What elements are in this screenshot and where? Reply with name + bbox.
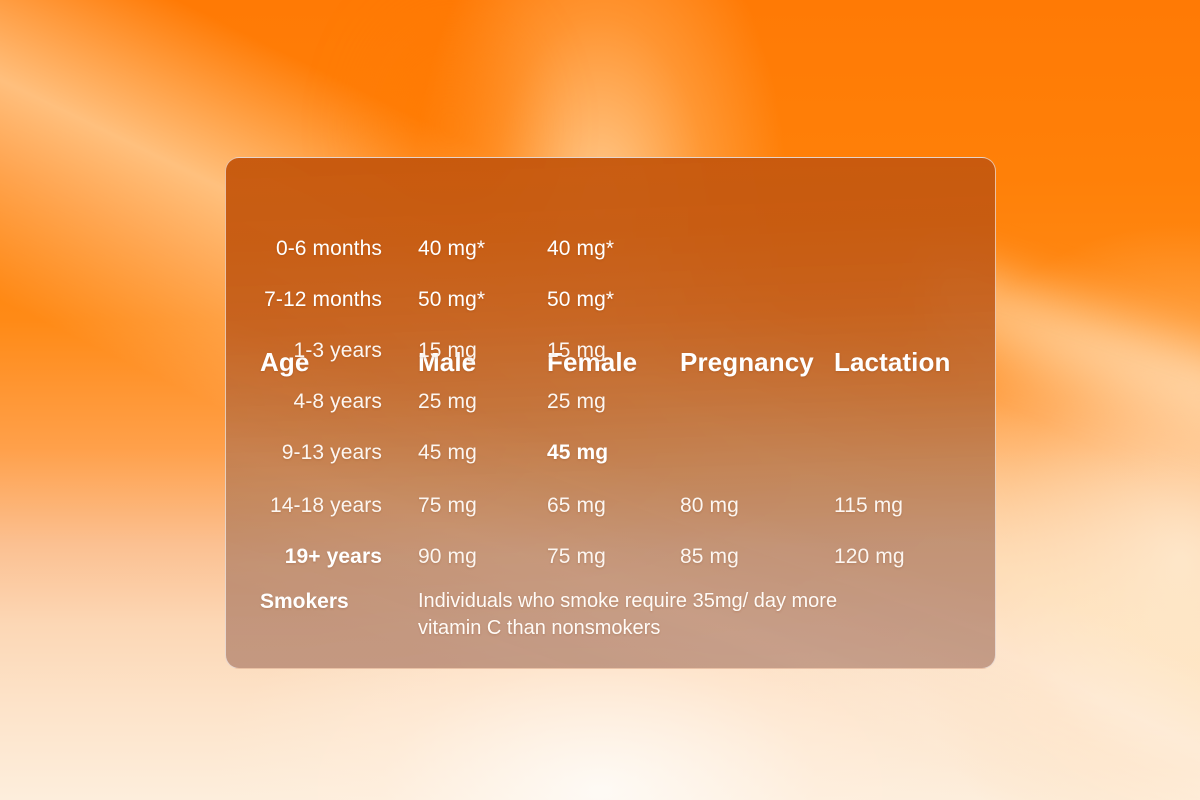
cell-pregnancy: 80 mg [680,492,739,520]
cell-female: 45 mg [547,439,608,467]
cell-female: 50 mg* [547,286,614,314]
cell-male: 90 mg [418,543,477,571]
cell-pregnancy: 85 mg [680,543,739,571]
cell-male: 45 mg [418,439,477,467]
table-row: 0-6 months 40 mg* 40 mg* [226,235,995,269]
cell-male: 40 mg* [418,235,485,263]
cell-male: 25 mg [418,388,477,416]
cell-age: 7-12 months [264,286,382,314]
cell-lactation: 115 mg [834,492,903,520]
cell-male: 75 mg [418,492,477,520]
rda-table: Age Male Female Pregnancy Lactation 0-6 … [226,158,995,668]
cell-female: 25 mg [547,388,606,416]
cell-male: 50 mg* [418,286,485,314]
cell-female: 40 mg* [547,235,614,263]
cell-age: 19+ years [285,543,382,571]
cell-age: 14-18 years [270,492,382,520]
table-row: 4-8 years 25 mg 25 mg [226,388,995,422]
cell-age: 4-8 years [294,388,382,416]
table-row: 7-12 months 50 mg* 50 mg* [226,286,995,320]
cell-age: 0-6 months [276,235,382,263]
table-row: 9-13 years 45 mg 45 mg [226,439,995,473]
vitamin-c-rda-card: Age Male Female Pregnancy Lactation 0-6 … [225,157,996,669]
cell-female: 15 mg [547,337,606,365]
cell-male: 15 mg [418,337,477,365]
cell-age: 9-13 years [282,439,382,467]
table-row: 19+ years 90 mg 75 mg 85 mg 120 mg [226,543,995,577]
cell-smokers-note: Individuals who smoke require 35mg/ day … [418,588,888,642]
cell-female: 75 mg [547,543,606,571]
table-row: 14-18 years 75 mg 65 mg 80 mg 115 mg [226,492,995,526]
table-row-smokers: Smokers Individuals who smoke require 35… [226,588,995,648]
cell-smokers-label: Smokers [260,588,349,616]
table-row: 1-3 years 15 mg 15 mg [226,337,995,371]
cell-female: 65 mg [547,492,606,520]
cell-lactation: 120 mg [834,543,905,571]
cell-age: 1-3 years [294,337,382,365]
